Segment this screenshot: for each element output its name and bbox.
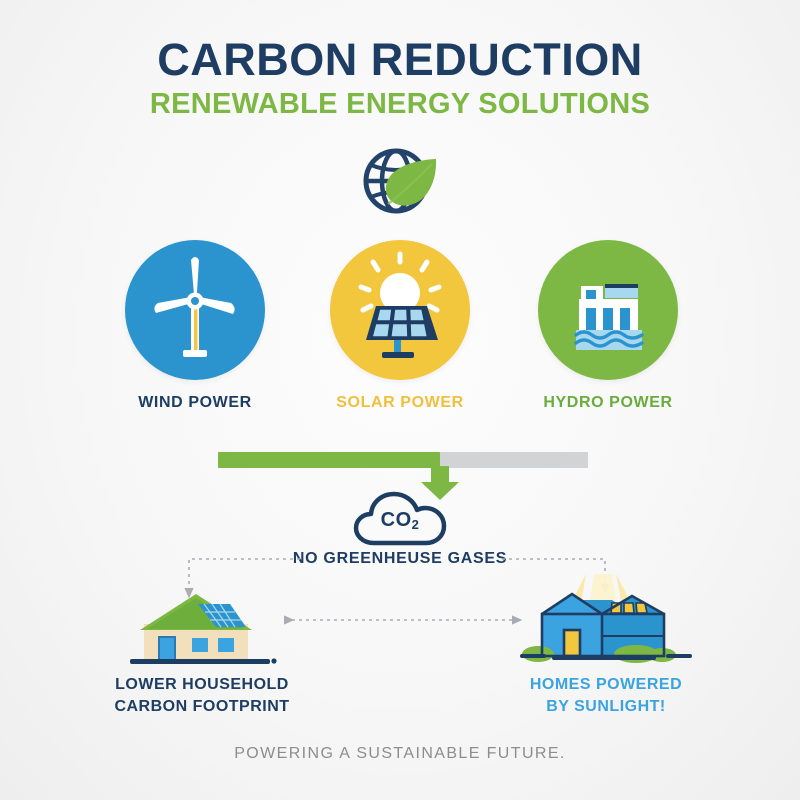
solar-panel-icon: [330, 240, 470, 380]
source-wind-label: WIND POWER: [95, 394, 295, 412]
source-hydro-label: HYDRO POWER: [508, 394, 708, 412]
page-subtitle: RENEWABLE ENERGY SOLUTIONS: [0, 88, 800, 121]
co2-label: CO2: [352, 487, 448, 549]
sun-icon: [361, 254, 439, 313]
tagline: POWERING A SUSTAINABLE FUTURE.: [0, 745, 800, 763]
globe-leaf-logo: [350, 142, 450, 220]
outcome-right-label: HOMES POWERED BY SUNLIGHT!: [496, 674, 716, 717]
hydro-dam-icon: [538, 240, 678, 380]
co2-subscript: 2: [412, 517, 420, 532]
source-wind[interactable]: WIND POWER: [95, 240, 295, 412]
outcome-left-line2: CARBON FOOTPRINT: [82, 696, 322, 718]
solar-power-circle[interactable]: [330, 240, 470, 380]
carbon-reduction-progress-bar[interactable]: [218, 452, 588, 468]
source-solar[interactable]: SOLAR POWER: [300, 240, 500, 412]
page-title: CARBON REDUCTION: [0, 36, 800, 83]
wind-turbine-icon: [125, 240, 265, 380]
no-greenhouse-gases-caption: NO GREENHEUSE GASES: [0, 550, 800, 568]
header: CARBON REDUCTION RENEWABLE ENERGY SOLUTI…: [0, 36, 800, 122]
wind-power-circle[interactable]: [125, 240, 265, 380]
outcome-left-line1: LOWER HOUSEHOLD: [82, 674, 322, 696]
hydro-power-circle[interactable]: [538, 240, 678, 380]
infographic-poster: CARBON REDUCTION RENEWABLE ENERGY SOLUTI…: [0, 0, 800, 800]
progress-fill: [218, 452, 440, 468]
co2-cloud-badge: CO2: [352, 487, 448, 549]
outcome-left-label: LOWER HOUSEHOLD CARBON FOOTPRINT: [82, 674, 322, 717]
house-lit-by-sunlight-icon: [516, 570, 696, 666]
co2-text: CO: [381, 509, 412, 532]
outcome-right-line2: BY SUNLIGHT!: [496, 696, 716, 718]
source-hydro[interactable]: HYDRO POWER: [508, 240, 708, 412]
energy-sources-row: WIND POWER: [0, 240, 800, 410]
house-with-solar-panel-icon: [122, 588, 282, 666]
outcome-right-line1: HOMES POWERED: [496, 674, 716, 696]
source-solar-label: SOLAR POWER: [300, 394, 500, 412]
